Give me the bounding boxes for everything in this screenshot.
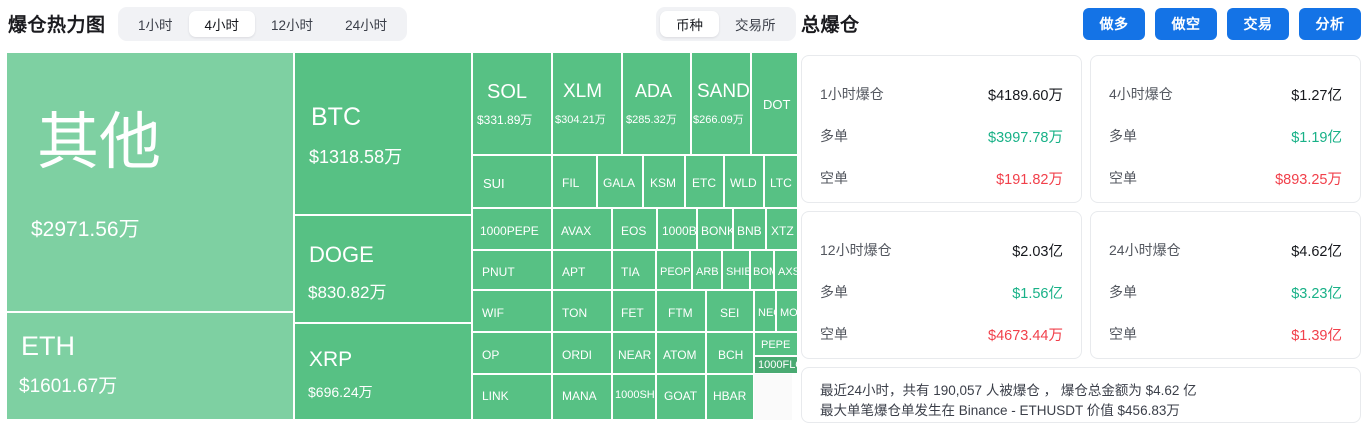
treemap-tile-symbol: 其他 [37,91,161,181]
card-row: 空单$4673.44万 [820,324,1063,344]
treemap-tile-value: $331.89万 [477,111,532,128]
treemap-tile[interactable]: GALA [597,155,643,208]
long-label: 多单 [1109,282,1137,302]
long-value: $3.23亿 [1291,282,1342,303]
treemap-tile-symbol: MANA [562,389,597,403]
treemap-tile-symbol: BONK [701,224,733,238]
treemap-tile-symbol: GOAT [664,389,697,403]
treemap-tile[interactable]: KSM [643,155,685,208]
action-button-group: 做多做空交易分析 [1083,8,1361,40]
treemap-tile-symbol: OP [482,348,499,362]
treemap-tile[interactable]: 其他$2971.56万 [6,52,294,312]
treemap-tile[interactable]: FET [612,290,656,332]
treemap-tile-symbol: FIL [562,176,579,190]
treemap-tile[interactable]: XRP$696.24万 [294,323,472,420]
action-button-0[interactable]: 做多 [1083,8,1145,40]
treemap-tile-symbol: DOGE [309,242,374,268]
treemap-tile[interactable]: WLD [724,155,764,208]
treemap-tile[interactable]: OP [472,332,552,374]
treemap-tile[interactable]: BTC$1318.58万 [294,52,472,215]
treemap-tile[interactable]: HBAR [706,374,754,420]
long-label: 多单 [820,126,848,146]
treemap-tile[interactable]: DOT [751,52,798,155]
treemap-tile[interactable]: SHIB [722,250,750,290]
action-button-3[interactable]: 分析 [1299,8,1361,40]
long-label: 多单 [820,282,848,302]
treemap-tile[interactable]: WIF [472,290,552,332]
treemap-tile-symbol: PEPE [761,339,790,351]
card-total-value: $4.62亿 [1291,240,1342,261]
treemap-tile[interactable]: ETC [685,155,724,208]
card-row: 24小时爆仓$4.62亿 [1109,240,1342,260]
liquidation-treemap[interactable]: 其他$2971.56万ETH$1601.67万BTC$1318.58万DOGE$… [6,52,792,420]
short-label: 空单 [820,324,848,344]
treemap-tile-symbol: SUI [483,176,505,191]
treemap-tile-symbol: LINK [482,389,509,403]
timeframe-tab-3[interactable]: 24小时 [329,11,403,37]
summary-line-1: 最近24小时，共有 190,057 人被爆仓 ， 爆仓总金额为 $4.62 亿 [820,379,1197,399]
treemap-tile-value: $696.24万 [308,382,373,402]
treemap-tile-symbol: ATOM [663,348,697,362]
liquidation-stats-card: 4小时爆仓$1.27亿多单$1.19亿空单$893.25万 [1090,55,1361,203]
treemap-tile[interactable]: BONK [697,208,733,250]
timeframe-tab-group[interactable]: 1小时4小时12小时24小时 [118,7,407,41]
treemap-tile-symbol: ETC [692,176,716,190]
treemap-tile-symbol: PEOPLE [660,266,692,278]
card-row: 空单$893.25万 [1109,168,1342,188]
treemap-tile-symbol: XRP [309,348,352,372]
treemap-tile-value: $304.21万 [555,111,606,127]
card-row: 空单$191.82万 [820,168,1063,188]
short-value: $1.39亿 [1291,324,1342,345]
treemap-tile-symbol: AXS [778,266,798,278]
treemap-tile-symbol: FET [621,306,644,320]
treemap-tile-symbol: LTC [770,176,792,190]
treemap-tile-symbol: BOME [753,266,774,278]
card-title: 12小时爆仓 [820,240,892,260]
card-row: 多单$1.19亿 [1109,126,1342,146]
treemap-tile-symbol: TON [562,306,587,320]
action-button-2[interactable]: 交易 [1227,8,1289,40]
treemap-tile-symbol: DOT [763,97,790,112]
treemap-tile-symbol: FTM [668,306,693,320]
treemap-tile-symbol: BTC [311,103,361,132]
treemap-tile-symbol: ORDI [562,348,592,362]
treemap-tile-symbol: APT [562,265,585,279]
treemap-tile-symbol: TIA [621,265,640,279]
treemap-tile[interactable]: ARB [692,250,722,290]
treemap-tile-symbol: PNUT [482,265,515,279]
treemap-tile-symbol: BNB [737,224,762,238]
card-title: 4小时爆仓 [1109,84,1173,104]
treemap-tile-value: $1601.67万 [19,371,117,398]
treemap-tile[interactable]: PNUT [472,250,552,290]
short-label: 空单 [1109,324,1137,344]
treemap-tile-symbol: SANDBOX [697,81,751,103]
long-value: $1.19亿 [1291,126,1342,147]
grouping-tab-1[interactable]: 交易所 [719,11,792,37]
treemap-tile[interactable]: SANDBOX$266.09万 [691,52,751,155]
heatmap-title: 爆仓热力图 [8,10,106,37]
treemap-tile-value: $1318.58万 [309,143,402,169]
treemap-tile[interactable]: LTC [764,155,798,208]
card-row: 1小时爆仓$4189.60万 [820,84,1063,104]
total-liquidation-title: 总爆仓 [801,10,860,37]
treemap-tile-symbol: AVAX [561,224,591,238]
page-header: 爆仓热力图 1小时4小时12小时24小时 币种交易所 总爆仓 做多做空交易分析 [0,0,1367,48]
summary-panel: 最近24小时，共有 190,057 人被爆仓 ， 爆仓总金额为 $4.62 亿 … [801,367,1361,423]
treemap-tile[interactable]: BNB [733,208,766,250]
card-row: 多单$3.23亿 [1109,282,1342,302]
treemap-tile-symbol: 1000SHIB [615,389,656,401]
treemap-tile-symbol: WIF [482,306,504,320]
treemap-tile[interactable]: MANA [552,374,612,420]
treemap-tile-symbol: EOS [621,224,646,238]
treemap-tile-value: $830.82万 [308,278,386,303]
treemap-tile[interactable]: FIL [552,155,597,208]
treemap-tile[interactable]: FTM [656,290,706,332]
treemap-tile-symbol: SHIB [726,266,750,278]
treemap-tile[interactable]: 1000SHIB [612,374,656,420]
card-row: 12小时爆仓$2.03亿 [820,240,1063,260]
treemap-tile[interactable]: APT [552,250,612,290]
card-total-value: $4189.60万 [988,84,1063,105]
short-label: 空单 [1109,168,1137,188]
timeframe-tab-2[interactable]: 12小时 [255,11,329,37]
treemap-tile[interactable]: LINK [472,374,552,420]
card-title: 1小时爆仓 [820,84,884,104]
treemap-tile[interactable]: GOAT [656,374,706,420]
card-row: 4小时爆仓$1.27亿 [1109,84,1342,104]
treemap-tile-symbol: NEAR [618,348,651,362]
summary-line-2: 最大单笔爆仓单发生在 Binance - ETHUSDT 价值 $456.83万 [820,399,1180,419]
treemap-tile-symbol: ETH [21,331,75,362]
treemap-tile-value: $285.32万 [626,111,677,127]
treemap-tile-symbol: HBAR [713,389,746,403]
card-title: 24小时爆仓 [1109,240,1181,260]
treemap-tile[interactable]: BCH [706,332,754,374]
treemap-tile-symbol: WLD [730,176,757,190]
short-value: $4673.44万 [988,324,1063,345]
timeframe-tab-1[interactable]: 4小时 [189,11,256,37]
timeframe-tab-0[interactable]: 1小时 [122,11,189,37]
treemap-tile-symbol: 1000FLOKI [758,359,798,371]
treemap-tile[interactable]: SEI [706,290,754,332]
treemap-tile[interactable]: DOGE$830.82万 [294,215,472,323]
treemap-tile-symbol: XTZ [771,224,794,238]
treemap-tile[interactable]: SOL$331.89万 [472,52,552,155]
liquidation-heatmap-page: 爆仓热力图 1小时4小时12小时24小时 币种交易所 总爆仓 做多做空交易分析 … [0,0,1367,426]
treemap-tile-symbol: 1000PEPE [480,224,539,238]
long-label: 多单 [1109,126,1137,146]
treemap-tile-symbol: SEI [720,306,739,320]
treemap-tile[interactable]: SUI [472,155,552,208]
treemap-tile[interactable]: XTZ [766,208,798,250]
treemap-tile[interactable]: MOVE [776,290,798,332]
treemap-tile-symbol: ADA [635,81,672,102]
treemap-tile-value: $266.09万 [693,111,744,127]
action-button-1[interactable]: 做空 [1155,8,1217,40]
treemap-tile[interactable]: 1000FLOKI [754,356,798,374]
treemap-tile-symbol: BCH [718,348,743,362]
treemap-tile[interactable]: ETH$1601.67万 [6,312,294,420]
treemap-tile[interactable]: NEO [754,290,776,332]
treemap-tile[interactable]: TON [552,290,612,332]
short-value: $191.82万 [996,168,1063,189]
treemap-tile[interactable]: AXS [774,250,798,290]
treemap-tile-value: $2971.56万 [31,213,140,243]
card-row: 空单$1.39亿 [1109,324,1342,344]
treemap-tile-symbol: ARB [696,266,719,278]
short-label: 空单 [820,168,848,188]
short-value: $893.25万 [1275,168,1342,189]
treemap-tile-symbol: XLM [563,81,602,103]
treemap-tile[interactable]: ORDI [552,332,612,374]
treemap-tile[interactable]: AVAX [552,208,612,250]
treemap-tile-symbol: MOVE [780,307,798,319]
card-row: 多单$3997.78万 [820,126,1063,146]
treemap-tile[interactable]: ADA$285.32万 [622,52,691,155]
card-row: 多单$1.56亿 [820,282,1063,302]
long-value: $3997.78万 [988,126,1063,147]
treemap-tile-symbol: SOL [487,81,527,104]
treemap-tile[interactable]: XLM$304.21万 [552,52,622,155]
treemap-tile[interactable]: EOS [612,208,657,250]
treemap-tile-symbol: NEO [758,307,776,319]
treemap-tile[interactable]: PEOPLE [656,250,692,290]
treemap-tile[interactable]: ATOM [656,332,706,374]
treemap-tile[interactable]: 1000BONK [657,208,697,250]
treemap-tile[interactable]: NEAR [612,332,656,374]
treemap-tile[interactable]: 1000PEPE [472,208,552,250]
treemap-tile[interactable]: TIA [612,250,656,290]
liquidation-stats-card: 24小时爆仓$4.62亿多单$3.23亿空单$1.39亿 [1090,211,1361,359]
treemap-tile[interactable]: BOME [750,250,774,290]
treemap-tile-symbol: KSM [650,176,676,190]
grouping-tab-group[interactable]: 币种交易所 [656,7,796,41]
long-value: $1.56亿 [1012,282,1063,303]
liquidation-stats-card: 1小时爆仓$4189.60万多单$3997.78万空单$191.82万 [801,55,1082,203]
treemap-tile-symbol: GALA [603,176,635,190]
treemap-tile-symbol: 1000BONK [662,224,697,238]
card-total-value: $2.03亿 [1012,240,1063,261]
grouping-tab-0[interactable]: 币种 [660,11,719,37]
liquidation-stats-card: 12小时爆仓$2.03亿多单$1.56亿空单$4673.44万 [801,211,1082,359]
treemap-tile[interactable]: PEPE [754,332,798,356]
card-total-value: $1.27亿 [1291,84,1342,105]
